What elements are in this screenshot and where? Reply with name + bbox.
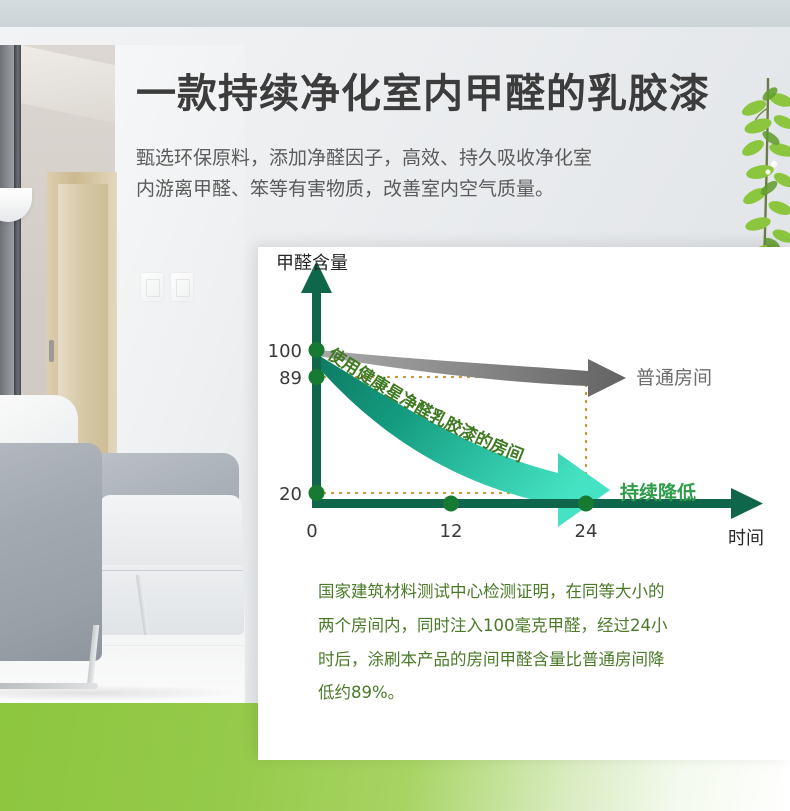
y-tick-89: 89 <box>279 368 302 389</box>
caption-line-1: 国家建筑材料测试中心检测证明，在同等大小的 <box>318 575 768 609</box>
annotation-continuous-reduction: 持续降低 <box>620 481 696 504</box>
page-stage: 一款持续净化室内甲醛的乳胶漆 甄选环保原料，添加净醛因子，高效、持久吸收净化室 … <box>0 0 790 811</box>
caption-line-2: 两个房间内，同时注入100毫克甲醛，经过24小 <box>318 609 768 643</box>
subtitle-line-1: 甄选环保原料，添加净醛因子，高效、持久吸收净化室 <box>136 143 716 174</box>
wall-switch-1 <box>141 273 163 301</box>
page-subtitle: 甄选环保原料，添加净醛因子，高效、持久吸收净化室 内游离甲醛、笨等有害物质，改善… <box>136 143 716 205</box>
y-axis-label: 甲醛含量 <box>276 253 348 274</box>
photo-door-handle <box>49 340 54 362</box>
x-tick-0: 0 <box>306 521 317 542</box>
sofa-base <box>96 565 244 635</box>
sofa-leg-bar <box>0 683 98 689</box>
x-tick-12: 12 <box>440 521 463 542</box>
background-top-band <box>0 0 790 28</box>
x-tick-24: 24 <box>575 521 598 542</box>
sofa-seam <box>98 570 243 571</box>
x-axis-label: 时间 <box>728 528 764 549</box>
page-title: 一款持续净化室内甲醛的乳胶漆 <box>136 70 756 119</box>
chart-card: 使用健康星净醛乳胶漆的房间 <box>258 247 790 760</box>
caption-line-4: 低约89%。 <box>318 676 768 710</box>
y-tick-100: 100 <box>268 341 302 362</box>
legend-ordinary-room: 普通房间 <box>636 367 712 389</box>
y-tick-20: 20 <box>279 484 302 505</box>
caption-line-3: 时后，涂刷本产品的房间甲醛含量比普通房间降 <box>318 643 768 677</box>
formaldehyde-chart: 使用健康星净醛乳胶漆的房间 <box>258 247 790 552</box>
wall-switch-2 <box>171 273 193 301</box>
chart-caption: 国家建筑材料测试中心检测证明，在同等大小的 两个房间内，同时注入100毫克甲醛，… <box>318 575 768 710</box>
subtitle-line-2: 内游离甲醛、笨等有害物质，改善室内空气质量。 <box>136 174 716 205</box>
sofa-backrest <box>0 443 102 661</box>
